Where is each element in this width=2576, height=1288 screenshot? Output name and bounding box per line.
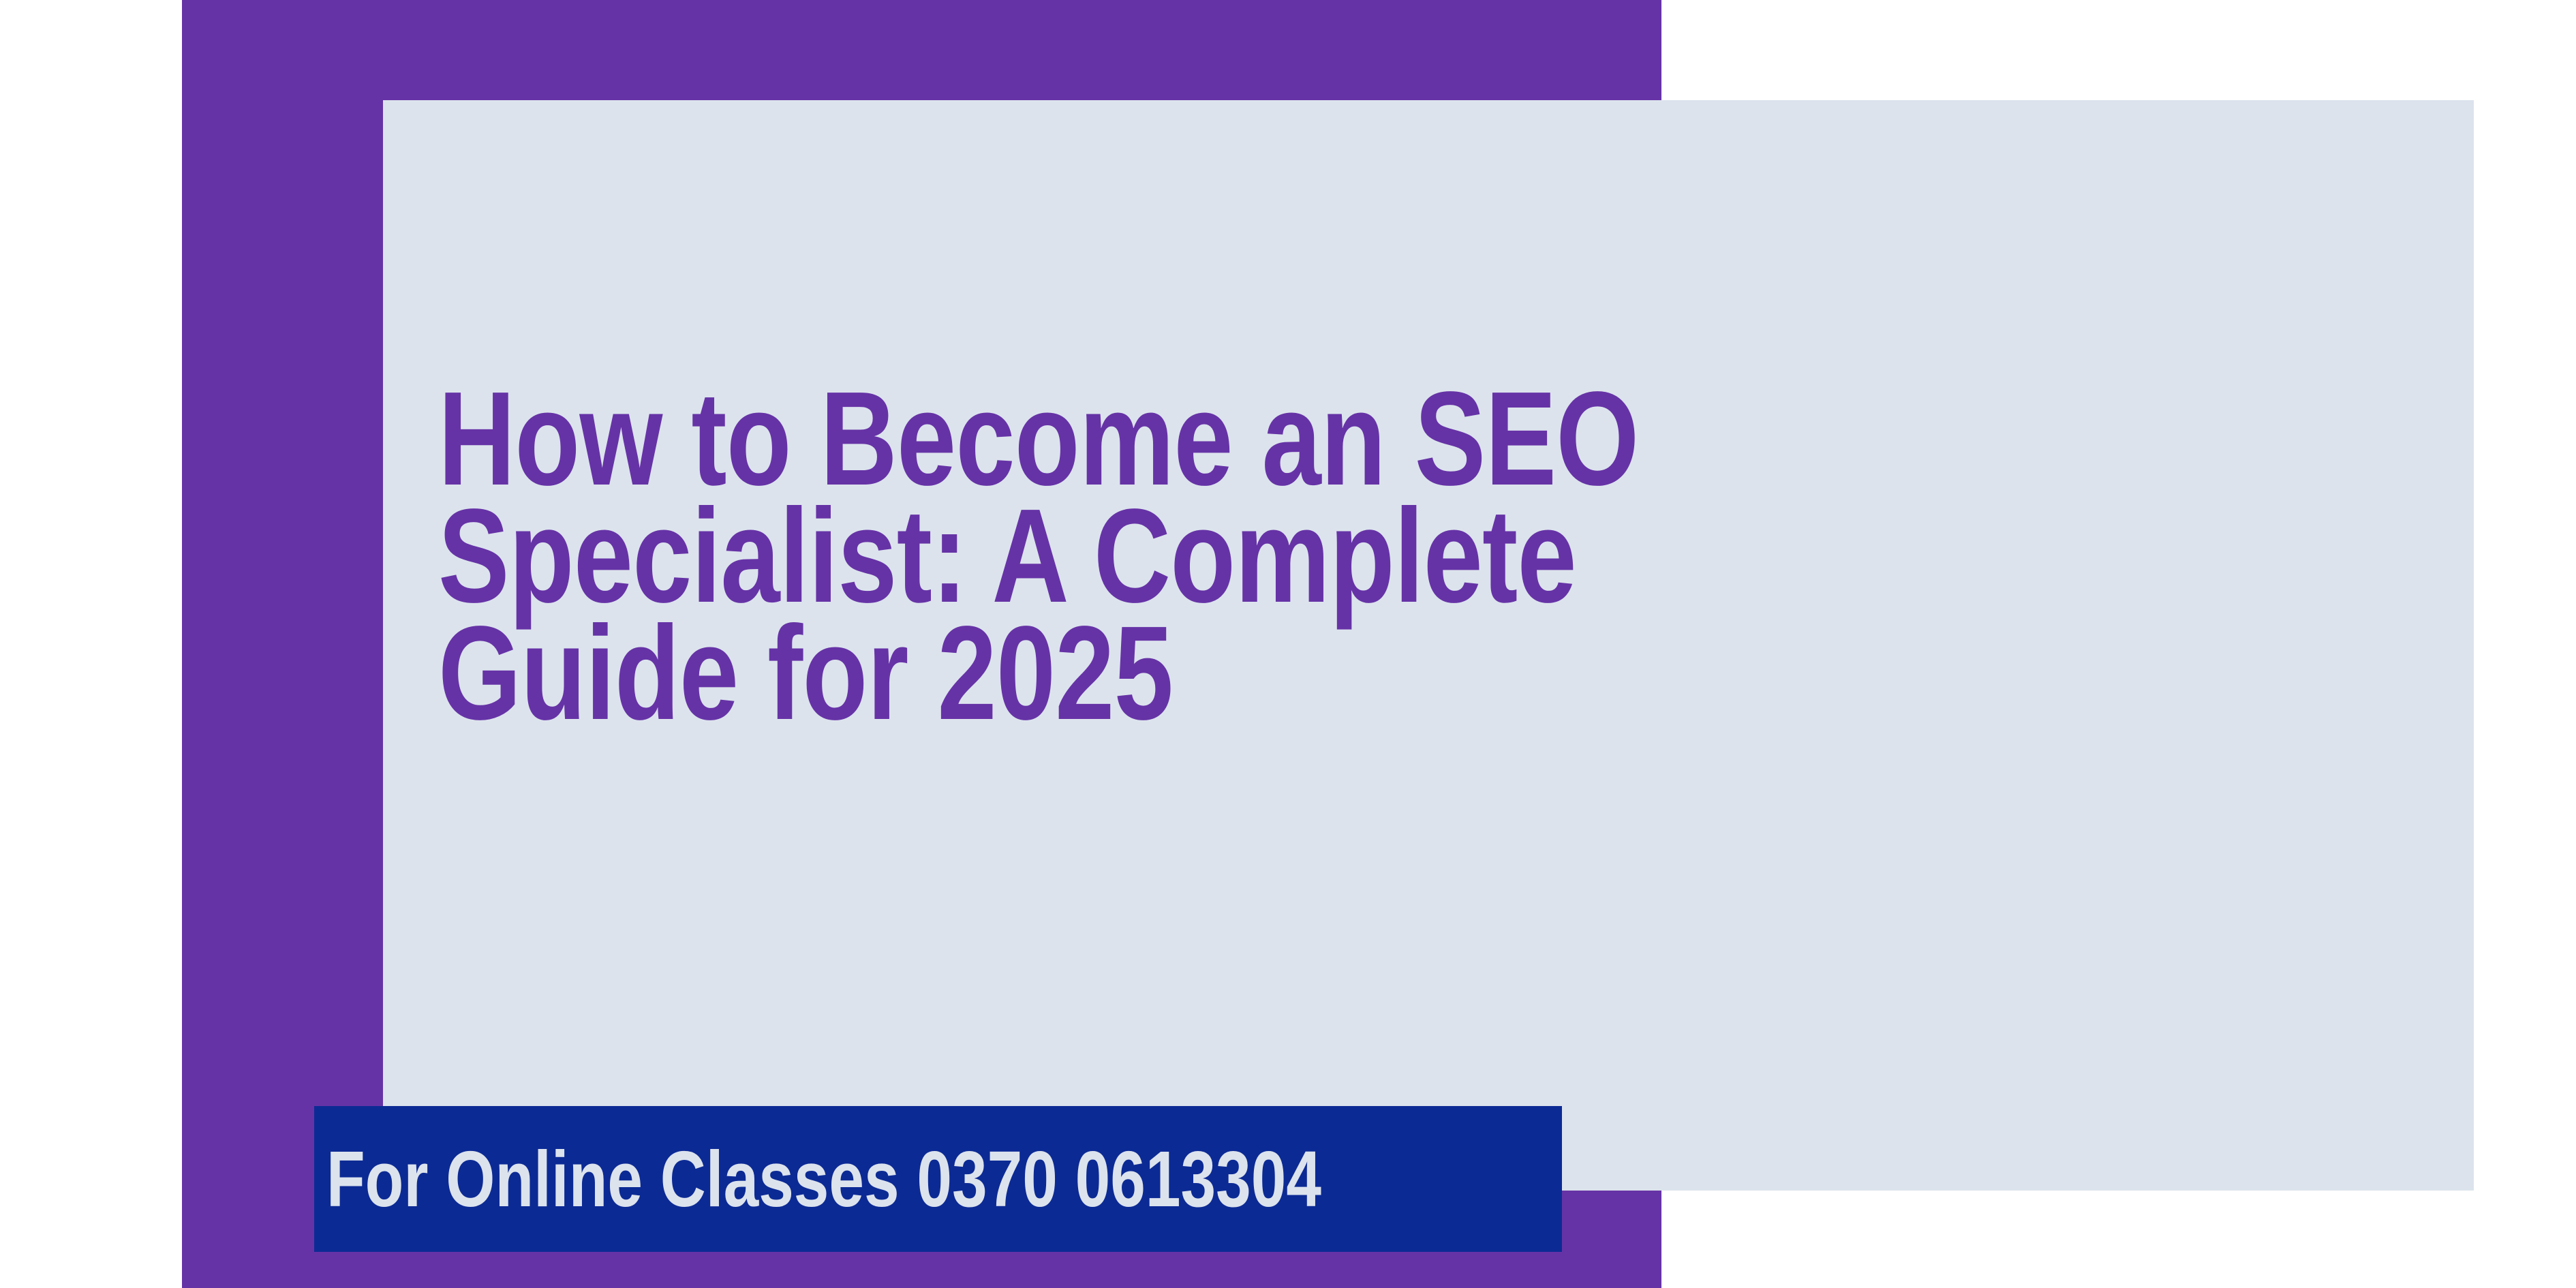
page-title-line-1: How to Become an SEO	[438, 380, 1763, 497]
contact-banner[interactable]: For Online Classes 0370 0613304	[314, 1106, 1562, 1252]
page-title-line-2: Specialist: A Complete	[438, 497, 1763, 615]
contact-banner-text: For Online Classes 0370 0613304	[326, 1139, 1321, 1218]
page-title-line-3: Guide for 2025	[438, 615, 1763, 732]
page-title: How to Become an SEO Specialist: A Compl…	[438, 380, 1763, 732]
title-card-canvas: How to Become an SEO Specialist: A Compl…	[0, 0, 2576, 1288]
